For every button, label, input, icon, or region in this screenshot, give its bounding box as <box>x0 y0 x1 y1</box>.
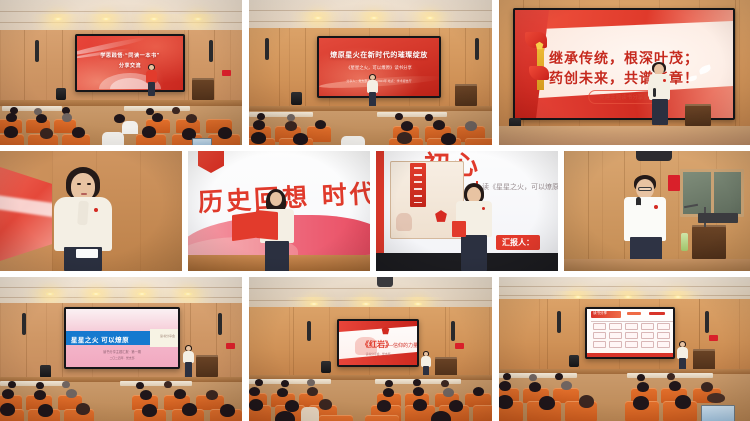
slide-footline: 二〇二四年 · 党支部 <box>66 356 178 360</box>
slide-subline: 读书分享主题汇报 · 第一期 <box>66 349 178 354</box>
collage-panel-mid-3[interactable]: 初心 读《星星之火，可以燎原》 汇报人： <box>376 151 558 271</box>
collage-panel-top-left[interactable]: 学思践悟·“同读一本书” 分享交流 <box>0 0 242 145</box>
collage-panel-mid-2[interactable]: 历史回想 时代呼唤 <box>188 151 370 271</box>
slide-headline-line1: 继承传统，根深叶茂； <box>515 48 733 68</box>
collage-panel-top-right[interactable]: 继承传统，根深叶茂； 药创未来，共谱华章！ 党建主题读书分享会 <box>499 0 750 145</box>
slide-corner-label: 读书分享会 <box>160 334 175 338</box>
slide-subline: ——信仰的力量 <box>383 342 417 349</box>
photo-collage: 学思践悟·“同读一本书” 分享交流 <box>0 0 750 421</box>
laptop-screen <box>701 405 735 421</box>
projection-screen: 星星之火 可以燎原 读书分享会 读书分享主题汇报 · 第一期 二〇二四年 · 党… <box>64 307 180 369</box>
projection-screen: 《红岩》 ——信仰的力量 读书分享会 · 党支部 <box>337 319 419 367</box>
slide-subline: 读《星星之火，可以燎原》 <box>482 182 558 192</box>
projection-screen: 学思践悟·“同读一本书” 分享交流 <box>75 34 185 92</box>
slide-subline: 分享交流 <box>77 62 183 69</box>
projection-screen: 读书分享 <box>585 307 675 359</box>
collage-panel-mid-1[interactable] <box>0 151 182 271</box>
collage-panel-mid-4[interactable] <box>564 151 750 271</box>
collage-panel-bottom-right[interactable]: 读书分享 <box>499 277 750 421</box>
slide-headline-line2: 药创未来，共谱华章！ <box>515 68 733 88</box>
slide-headline: 星星之火 可以燎原 <box>66 334 156 344</box>
slide-headline: 读书分享 <box>593 311 607 316</box>
collage-panel-bottom-left[interactable]: 星星之火 可以燎原 读书分享会 读书分享主题汇报 · 第一期 二〇二四年 · 党… <box>0 277 242 421</box>
slide-subline: 《星星之火，可以燎原》读书分享 <box>319 65 439 71</box>
slide-headline: 燎原星火在新时代的璀璨绽放 <box>319 50 439 60</box>
slide-headline: 学思践悟·“同读一本书” <box>77 52 183 59</box>
slide-footline: 读书分享会 · 党支部 <box>339 352 417 356</box>
projection-screen: 燎原星火在新时代的璀璨绽放 《星星之火，可以燎原》读书分享 分享人：党支部 时间… <box>317 36 441 98</box>
reporter-label: 汇报人： <box>496 235 540 250</box>
slide-footline: 分享人：党支部 时间：2024年 地点：学术报告厅 <box>319 79 439 83</box>
collage-panel-bottom-center[interactable]: 《红岩》 ——信仰的力量 读书分享会 · 党支部 <box>249 277 492 421</box>
collage-panel-top-center[interactable]: 燎原星火在新时代的璀璨绽放 《星星之火，可以燎原》读书分享 分享人：党支部 时间… <box>249 0 492 145</box>
